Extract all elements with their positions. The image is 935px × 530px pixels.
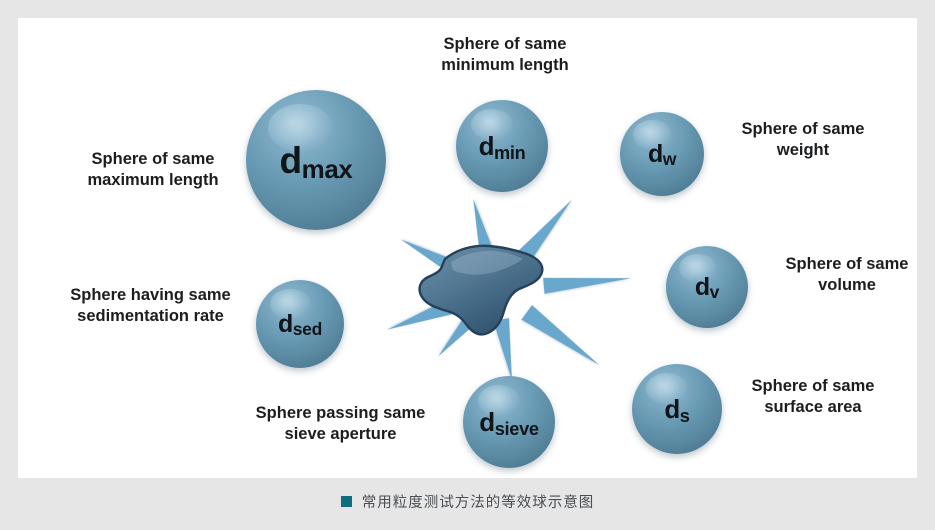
caption-bullet-icon [341,496,352,507]
sphere-dsieve: dsieve [463,376,555,468]
sphere-ds: ds [632,364,722,454]
sphere-dmax-symbol: dmax [279,142,352,179]
label-sphere-dmin: Sphere of same minimum length [399,34,611,75]
figure-caption: 常用粒度测试方法的等效球示意图 [18,486,917,516]
sphere-dmax: dmax [246,90,386,230]
label-sphere-dmax: Sphere of same maximum length [58,149,248,190]
sphere-dsed-symbol: dsed [278,312,322,337]
sphere-dsieve-symbol: dsieve [479,409,538,435]
label-sphere-dw: Sphere of same weight [712,119,894,160]
irregular-particle-icon [411,237,551,347]
label-sphere-dsed: Sphere having same sedimentation rate [38,285,263,326]
sphere-dmin: dmin [456,100,548,192]
label-sphere-ds: Sphere of same surface area [722,376,904,417]
sphere-dv-symbol: dv [695,275,719,300]
sphere-dw-symbol: dw [648,142,676,167]
figure-canvas: dmax dmin dw dv ds dsieve dsed Sphere of… [18,18,917,478]
sphere-dsed: dsed [256,280,344,368]
caption-label: 常用粒度测试方法的等效球示意图 [362,491,595,512]
sphere-dw: dw [620,112,704,196]
sphere-dv: dv [666,246,748,328]
label-sphere-dv: Sphere of same volume [756,254,917,295]
sphere-ds-symbol: ds [664,396,689,422]
sphere-dmin-symbol: dmin [479,133,526,159]
label-sphere-dsieve: Sphere passing same sieve aperture [228,403,453,444]
figure-frame: dmax dmin dw dv ds dsieve dsed Sphere of… [0,0,935,530]
